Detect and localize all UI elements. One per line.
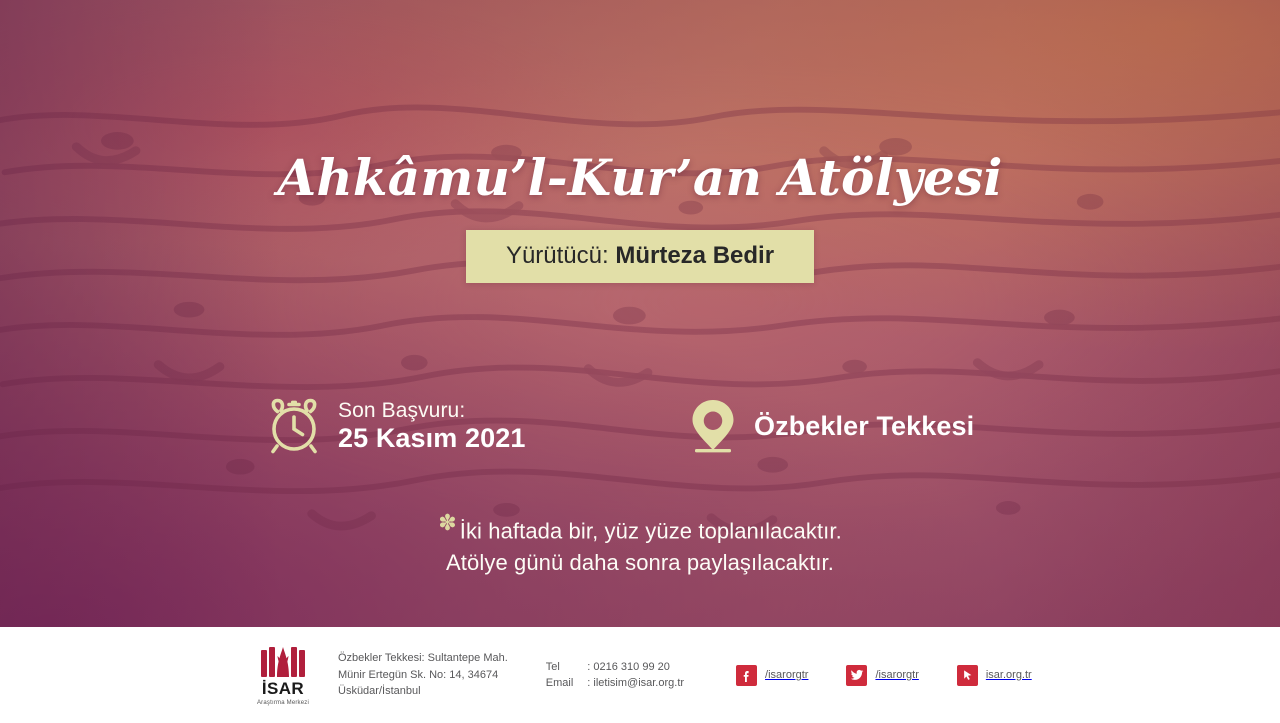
event-info-row: Son Başvuru: 25 Kasım 2021 Özbekler Tekk…: [0, 397, 1280, 455]
website-handle: isar.org.tr: [986, 669, 1032, 681]
event-poster: Ahkâmu’l-Kur’an Atölyesi Yürütücü: Mürte…: [0, 0, 1280, 723]
brand-name: İSAR: [262, 680, 304, 697]
social-link-website[interactable]: isar.org.tr: [957, 665, 1032, 686]
presenter-badge: Yürütücü: Mürteza Bedir: [466, 230, 814, 283]
deadline-block: Son Başvuru: 25 Kasım 2021: [260, 398, 680, 454]
venue-block: Özbekler Tekkesi: [680, 397, 1020, 455]
social-link-twitter[interactable]: /isarorgtr: [846, 665, 918, 686]
deadline-value: 25 Kasım 2021: [338, 423, 525, 453]
website-cursor-icon: [957, 665, 978, 686]
email-label: Email: [546, 675, 574, 692]
note-line-1-text: İki haftada bir, yüz yüze toplanılacaktı…: [460, 518, 842, 543]
presenter-label: Yürütücü:: [506, 242, 609, 269]
footer-inner: İSAR Araştırma Merkezi Özbekler Tekkesi:…: [0, 644, 1280, 706]
footer-contact: Tel : 0216 310 99 20 Email : iletisim@is…: [546, 659, 684, 692]
poster-content: Ahkâmu’l-Kur’an Atölyesi Yürütücü: Mürte…: [0, 0, 1280, 723]
twitter-handle: /isarorgtr: [875, 669, 918, 681]
deadline-label: Son Başvuru:: [338, 399, 525, 423]
facebook-icon: [736, 665, 757, 686]
alarm-clock-icon: [268, 398, 320, 454]
footer-socials: /isarorgtr /isarorgtr: [736, 665, 1032, 686]
tel-label: Tel: [546, 659, 574, 676]
poster-note: ✽İki haftada bir, yüz yüze toplanılacakt…: [0, 512, 1280, 578]
note-line-2: Atölye günü daha sonra paylaşılacaktır.: [0, 547, 1280, 578]
note-line-1: ✽İki haftada bir, yüz yüze toplanılacakt…: [0, 512, 1280, 547]
email-value: : iletisim@isar.org.tr: [587, 675, 684, 692]
deadline-text: Son Başvuru: 25 Kasım 2021: [338, 399, 525, 453]
address-line-2: Münir Ertegün Sk. No: 14, 34674: [338, 667, 508, 684]
social-link-facebook[interactable]: /isarorgtr: [736, 665, 808, 686]
brand-block: İSAR Araştırma Merkezi: [252, 644, 314, 706]
footer-address: Özbekler Tekkesi: Sultantepe Mah. Münir …: [338, 650, 508, 700]
asterisk-icon: ✽: [438, 510, 457, 535]
presenter-name: Mürteza Bedir: [615, 242, 774, 269]
address-line-1: Özbekler Tekkesi: Sultantepe Mah.: [338, 650, 508, 667]
presenter-row: Yürütücü: Mürteza Bedir: [0, 230, 1280, 283]
tel-value: : 0216 310 99 20: [587, 659, 684, 676]
facebook-handle: /isarorgtr: [765, 669, 808, 681]
footer-bar: İSAR Araştırma Merkezi Özbekler Tekkesi:…: [0, 627, 1280, 723]
isar-tulip-logo-icon: [260, 644, 306, 678]
poster-title: Ahkâmu’l-Kur’an Atölyesi: [0, 148, 1280, 207]
address-line-3: Üsküdar/İstanbul: [338, 683, 508, 700]
venue-name: Özbekler Tekkesi: [754, 411, 974, 442]
brand-subtitle: Araştırma Merkezi: [257, 700, 309, 706]
map-pin-icon: [688, 397, 738, 455]
twitter-icon: [846, 665, 867, 686]
